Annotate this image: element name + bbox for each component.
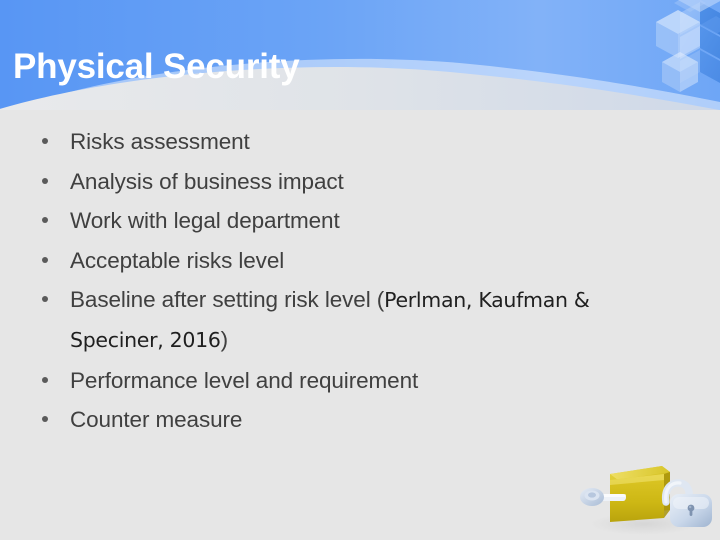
list-item: Acceptable risks level [0,241,700,280]
bullet-dot-icon [42,296,48,302]
list-item-label: Counter measure [70,400,700,439]
banner-body-seam [0,110,720,116]
folder-padlock-key-graphic [578,458,720,540]
list-item-label: Performance level and requirement [70,361,700,400]
bullet-dot-icon [42,377,48,383]
bullet-list: Risks assessment Analysis of business im… [0,122,700,440]
bullet-dot-icon [42,416,48,422]
list-item-label: Acceptable risks level [70,241,700,280]
bullet-dot-icon [42,138,48,144]
folder-padlock-key-illustration [578,458,720,540]
page-title: Physical Security [13,45,299,89]
list-item: Counter measure [0,400,700,439]
list-item-label: Analysis of business impact [70,162,700,201]
padlock-keyhole-gloss [689,506,691,508]
list-item: Risks assessment [0,122,700,161]
list-item-with-citation: Baseline after setting risk level (Perlm… [0,280,700,360]
bullet-dot-icon [42,178,48,184]
list-item: Analysis of business impact [0,162,700,201]
slide: Physical Security Risks assessment Analy… [0,0,720,540]
list-item: Performance level and requirement [0,361,700,400]
bullet-dot-icon [42,257,48,263]
list-item: Work with legal department [0,201,700,240]
list-item-label: Risks assessment [70,122,700,161]
list-item-text-before: Baseline after setting risk level ( [70,287,384,312]
padlock-keyhole-slot [690,508,693,516]
key-bow-hole [588,492,596,497]
list-item-text-after: ) [221,327,228,352]
list-item-label: Work with legal department [70,201,700,240]
list-item-label: Baseline after setting risk level (Perlm… [70,280,700,360]
bullet-dot-icon [42,217,48,223]
